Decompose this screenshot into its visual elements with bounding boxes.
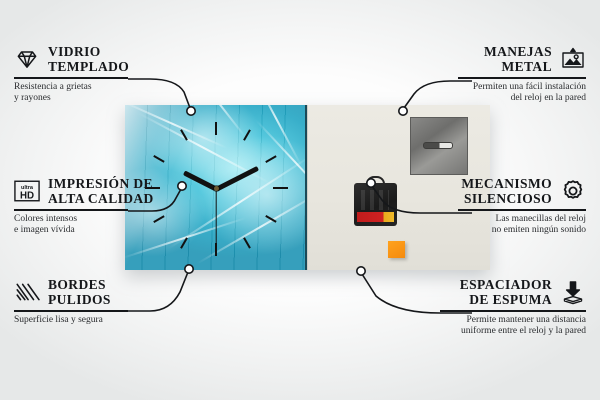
callout-subtitle-line1: Resistencia a grietas bbox=[14, 82, 128, 94]
callout-bordes-pulidos: BORDES PULIDOS Superficie lisa y segura bbox=[14, 277, 128, 326]
callout-title-line2: TEMPLADO bbox=[48, 59, 129, 74]
callout-subtitle-line2: uniforme entre el reloj y la pared bbox=[440, 326, 586, 338]
callout-title-line2: PULIDOS bbox=[48, 292, 111, 307]
callout-rule bbox=[14, 310, 128, 312]
callout-title-line2: METAL bbox=[484, 59, 552, 74]
callout-subtitle-line1: Permiten una fácil instalación bbox=[458, 82, 586, 94]
metal-hanger-plate bbox=[410, 117, 468, 175]
callout-title-line2: SILENCIOSO bbox=[461, 191, 552, 206]
framed-picture-icon bbox=[560, 46, 586, 72]
svg-text:HD: HD bbox=[20, 190, 34, 201]
callout-subtitle-line1: Las manecillas del reloj bbox=[458, 214, 586, 226]
callout-title-line1: MANEJAS bbox=[484, 44, 552, 59]
clock-second-hand bbox=[215, 189, 216, 244]
callout-subtitle-line1: Permite mantener una distancia bbox=[440, 315, 586, 327]
foam-spacer bbox=[388, 241, 405, 258]
callout-title-line1: MECANISMO bbox=[461, 176, 552, 191]
callout-manejas-metal: MANEJAS METAL Permiten una fácil instala… bbox=[458, 44, 586, 105]
clock-mark bbox=[215, 122, 217, 135]
ultra-hd-icon: ultra HD bbox=[14, 178, 40, 204]
callout-title-line1: VIDRIO bbox=[48, 44, 129, 59]
callout-rule bbox=[440, 310, 586, 312]
mechanism-hanging-loop bbox=[366, 176, 385, 185]
callout-title-line1: IMPRESIÓN DE bbox=[48, 176, 154, 191]
callout-subtitle-line2: e imagen vívida bbox=[14, 225, 128, 237]
clock-mechanism bbox=[354, 183, 397, 226]
callout-rule bbox=[14, 77, 128, 79]
clock-mark bbox=[215, 243, 217, 256]
callout-title-line1: BORDES bbox=[48, 277, 111, 292]
callout-subtitle-line2: del reloj en la pared bbox=[458, 93, 586, 105]
callout-subtitle-line1: Superficie lisa y segura bbox=[14, 315, 128, 327]
callout-rule bbox=[458, 209, 586, 211]
callout-title-line2: ALTA CALIDAD bbox=[48, 191, 154, 206]
arrow-down-pad-icon bbox=[560, 279, 586, 305]
callout-espaciador-espuma: ESPACIADOR DE ESPUMA Permite mantener un… bbox=[440, 277, 586, 338]
callout-impresion-alta-calidad: ultra HD IMPRESIÓN DE ALTA CALIDAD Color… bbox=[14, 176, 128, 237]
callout-subtitle-line2: y rayones bbox=[14, 93, 128, 105]
callout-title-line2: DE ESPUMA bbox=[460, 292, 552, 307]
clock-mark bbox=[273, 187, 288, 189]
gear-icon bbox=[560, 178, 586, 204]
callout-subtitle-line1: Colores intensos bbox=[14, 214, 128, 226]
hanger-slot bbox=[423, 142, 453, 149]
callout-subtitle-line2: no emiten ningún sonido bbox=[458, 225, 586, 237]
diagonal-lines-icon bbox=[14, 279, 40, 305]
mechanism-texture bbox=[361, 190, 389, 210]
callout-rule bbox=[14, 209, 128, 211]
callout-mecanismo-silencioso: MECANISMO SILENCIOSO Las manecillas del … bbox=[458, 176, 586, 237]
callout-vidrio-templado: VIDRIO TEMPLADO Resistencia a grietas y … bbox=[14, 44, 128, 105]
diamond-icon bbox=[14, 46, 40, 72]
callout-title-line1: ESPACIADOR bbox=[460, 277, 552, 292]
infographic-stage: VIDRIO TEMPLADO Resistencia a grietas y … bbox=[0, 0, 600, 400]
clock-center-hub bbox=[214, 186, 219, 191]
mechanism-battery-label bbox=[357, 212, 394, 222]
callout-rule bbox=[458, 77, 586, 79]
product-image bbox=[125, 105, 490, 270]
